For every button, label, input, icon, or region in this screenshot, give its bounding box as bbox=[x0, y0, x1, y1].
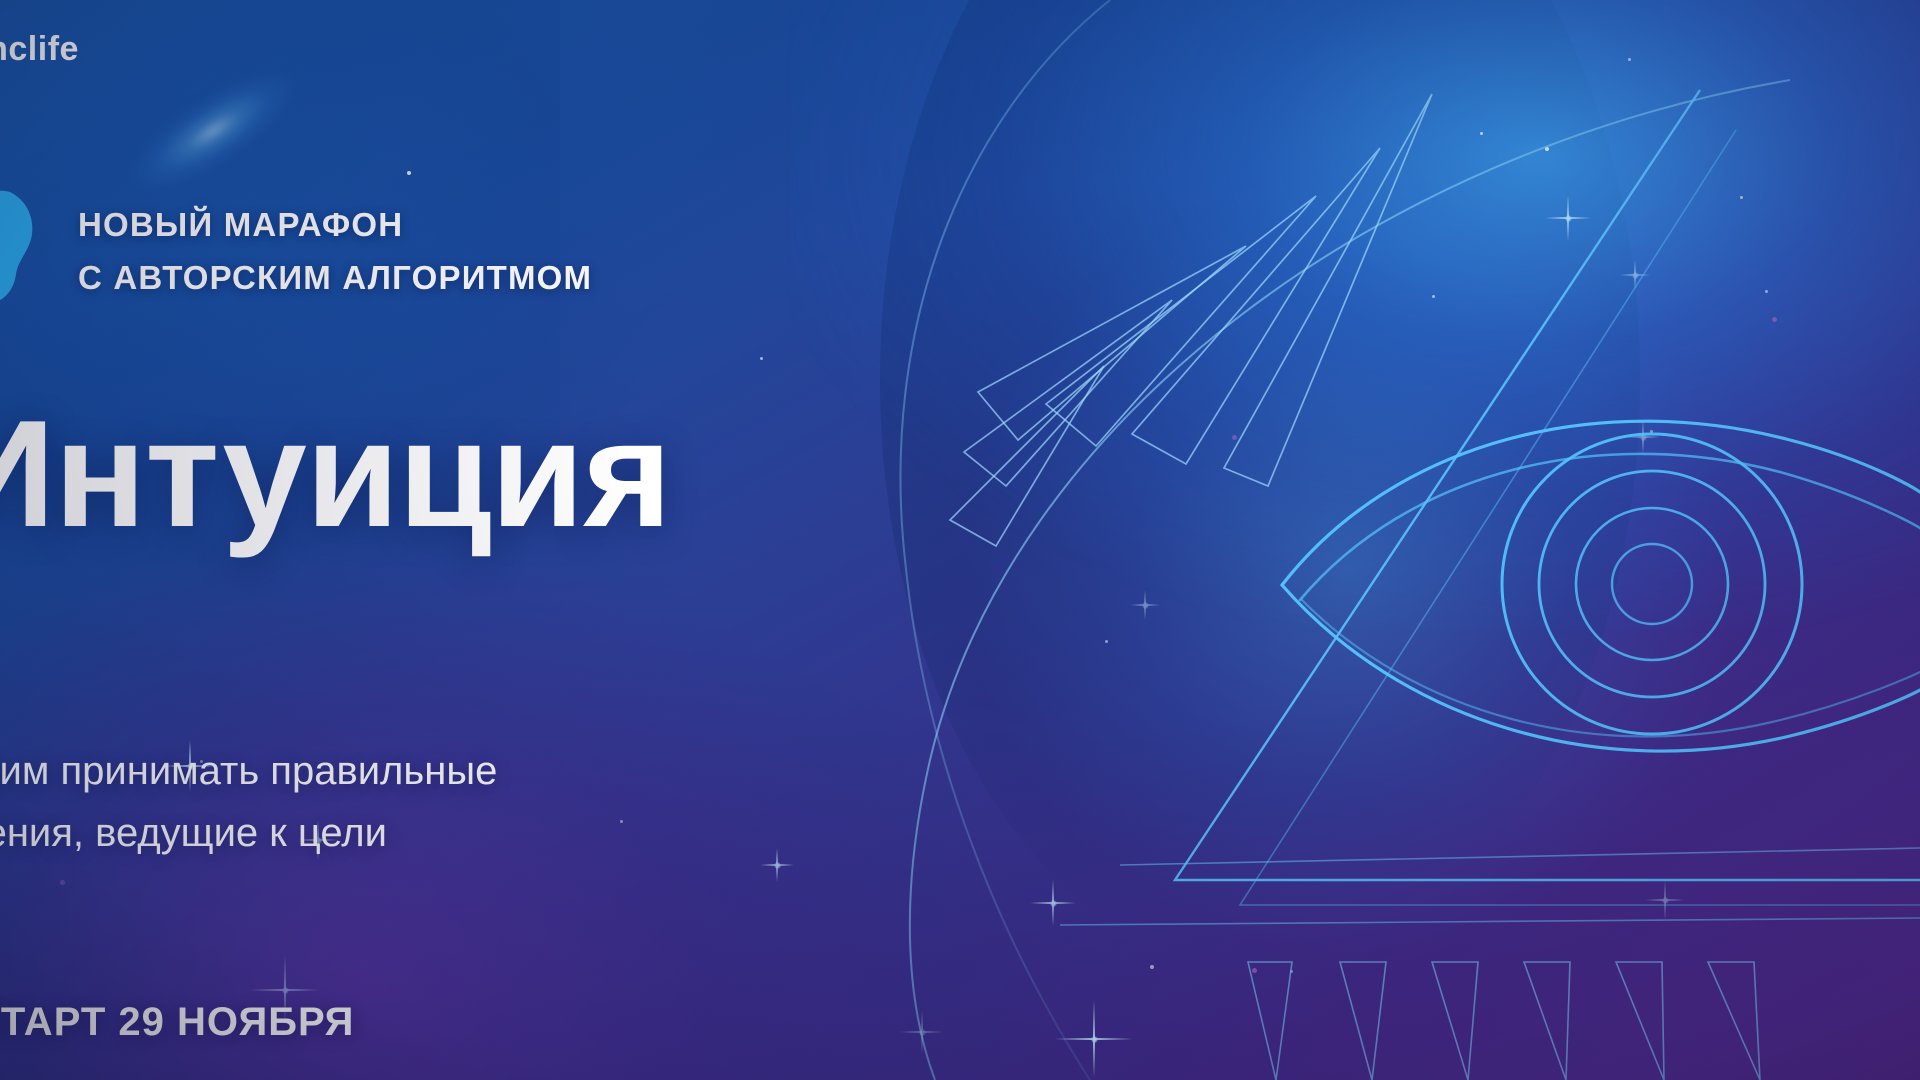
promo-banner: Sinclife НОВЫЙ МАРАФОН С АВТОРСКИМ АЛГОР… bbox=[0, 0, 1920, 1080]
background-vignette bbox=[0, 0, 1920, 1080]
